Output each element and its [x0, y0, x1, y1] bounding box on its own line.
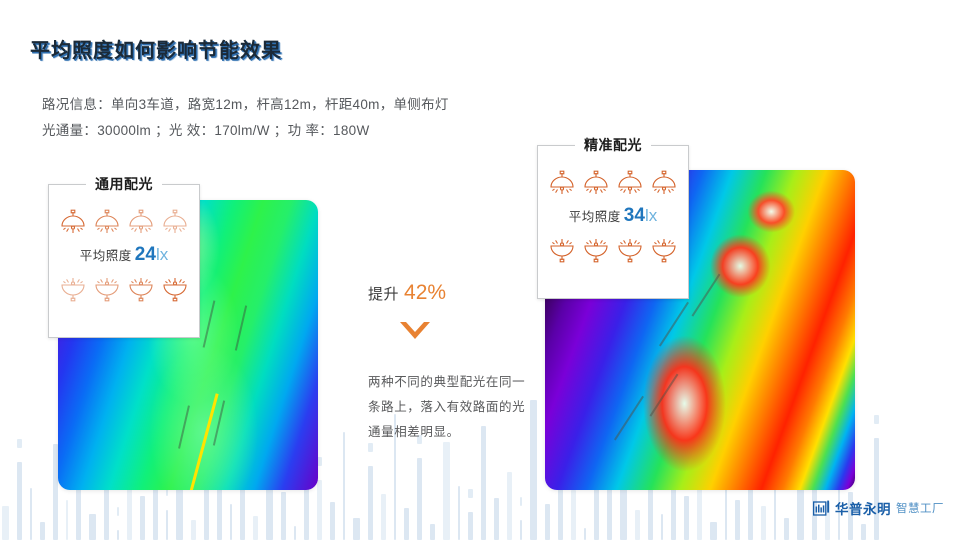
- background-bar: [230, 504, 232, 540]
- lamp-icon-inverted: [547, 237, 577, 263]
- avg-value-right: 34: [624, 205, 645, 226]
- lamp-icon: [160, 209, 190, 235]
- slide-canvas: 平均照度如何影响节能效果 路况信息：单向3车道，路宽12m，杆高12m，杆距40…: [0, 0, 960, 540]
- background-bar: [661, 514, 663, 540]
- background-bar: [89, 514, 96, 540]
- huapu-bars-logo-icon: [813, 500, 830, 517]
- background-bar: [353, 518, 360, 540]
- background-bar: [17, 462, 22, 540]
- lamp-icon-inverted: [58, 276, 88, 302]
- background-bar: [784, 518, 789, 540]
- background-bar: [294, 526, 296, 540]
- lane-mark: [692, 274, 721, 317]
- lane-mark: [203, 300, 215, 347]
- lamp-icon-inverted: [581, 237, 611, 263]
- background-bar-dot: [17, 439, 22, 448]
- lamp-icon: [547, 170, 577, 196]
- lane-mark: [178, 405, 189, 448]
- uplift-line: 提升42%: [368, 281, 533, 305]
- lamp-row-bottom-left: [49, 276, 199, 302]
- background-bar: [494, 498, 499, 540]
- chevron-down-icon: [398, 319, 533, 348]
- lamp-icon: [126, 209, 156, 235]
- background-bar: [417, 458, 422, 540]
- lamp-icon-inverted: [615, 237, 645, 263]
- background-bar: [443, 442, 450, 540]
- lamp-icon-inverted: [92, 276, 122, 302]
- background-bar: [217, 484, 222, 540]
- avg-unit-right: lx: [645, 206, 657, 225]
- lane-mark: [614, 396, 644, 440]
- center-summary: 提升42% 两种不同的典型配光在同一条路上，落入有效路面的光通量相差明显。: [368, 281, 533, 445]
- uplift-label: 提升: [368, 286, 399, 303]
- card-title-precision: 精准配光: [538, 135, 688, 155]
- card-title-general-label: 通用配光: [86, 176, 162, 192]
- background-bar: [861, 524, 866, 540]
- lamp-row-top-left: [49, 209, 199, 235]
- lamp-icon-inverted: [160, 276, 190, 302]
- background-bar: [368, 466, 373, 540]
- background-bar: [584, 528, 586, 540]
- background-bar-dot: [468, 489, 473, 498]
- background-bar: [40, 522, 45, 540]
- background-bar: [507, 472, 512, 540]
- road-info-line-1: 路况信息：单向3车道，路宽12m，杆高12m，杆距40m，单侧布灯: [42, 92, 449, 118]
- background-bar: [874, 438, 879, 540]
- page-title: 平均照度如何影响节能效果: [30, 34, 282, 63]
- background-bar: [191, 520, 196, 540]
- lamp-icon: [581, 170, 611, 196]
- background-bar: [430, 524, 435, 540]
- background-bar: [710, 522, 717, 540]
- lamp-icon: [649, 170, 679, 196]
- road-edge-line: [130, 393, 218, 490]
- avg-value-left: 24: [135, 244, 156, 265]
- lane-mark: [650, 374, 679, 417]
- lamp-row-bottom-right: [538, 237, 688, 263]
- lane-mark: [235, 305, 247, 350]
- comparison-description: 两种不同的典型配光在同一条路上，落入有效路面的光通量相差明显。: [368, 370, 528, 445]
- card-title-general: 通用配光: [49, 174, 199, 194]
- background-bar: [797, 484, 804, 540]
- background-bar: [140, 496, 145, 540]
- background-bar: [117, 530, 119, 540]
- background-bar: [343, 432, 345, 540]
- logo-main-text: 华普永明: [835, 498, 891, 518]
- avg-illuminance-left: 平均照度24lx: [49, 244, 199, 266]
- background-bar: [317, 480, 322, 540]
- background-bar: [571, 490, 576, 540]
- road-info-line-2: 光通量：30000lm ；光 效：170lm/W ；功 率：180W: [42, 118, 449, 144]
- background-bar-dot: [117, 507, 119, 516]
- background-bar: [458, 486, 460, 540]
- lamp-icon: [92, 209, 122, 235]
- card-general-distribution: 通用配光 平均照度24lx: [48, 184, 200, 338]
- background-bar: [735, 500, 740, 540]
- background-bar: [545, 504, 550, 540]
- avg-unit-left: lx: [156, 245, 168, 264]
- lamp-icon: [58, 209, 88, 235]
- background-bar: [404, 508, 409, 540]
- lamp-row-top-right: [538, 170, 688, 196]
- road-info-block: 路况信息：单向3车道，路宽12m，杆高12m，杆距40m，单侧布灯 光通量：30…: [42, 92, 449, 144]
- lamp-icon: [615, 170, 645, 196]
- background-bar: [30, 488, 32, 540]
- card-title-precision-label: 精准配光: [575, 137, 651, 153]
- background-bar-dot: [520, 497, 522, 506]
- lamp-icon-inverted: [126, 276, 156, 302]
- brand-logo: 华普永明 智慧工厂: [813, 498, 944, 518]
- background-bar: [330, 502, 335, 540]
- background-bar: [520, 520, 522, 540]
- background-bar: [684, 496, 689, 540]
- logo-sub-text: 智慧工厂: [896, 500, 944, 516]
- background-bar: [468, 512, 473, 540]
- background-bar: [2, 506, 9, 540]
- background-bar: [281, 492, 286, 540]
- background-bar: [66, 500, 68, 540]
- lane-mark: [213, 400, 225, 445]
- background-bar: [761, 506, 766, 540]
- background-bar: [381, 494, 386, 540]
- background-bar: [635, 510, 640, 540]
- avg-illuminance-right: 平均照度34lx: [538, 205, 688, 227]
- avg-label-right: 平均照度: [569, 210, 621, 224]
- background-bar: [166, 510, 168, 540]
- lamp-icon-inverted: [649, 237, 679, 263]
- card-precision-distribution: 精准配光 平均照度34lx: [537, 145, 689, 299]
- background-bar: [607, 482, 612, 540]
- avg-label-left: 平均照度: [80, 249, 132, 263]
- lane-mark: [659, 302, 689, 346]
- uplift-value: 42%: [404, 281, 446, 304]
- road-edge-line: [279, 388, 318, 490]
- background-bar-dot: [874, 415, 879, 424]
- background-bar: [253, 516, 258, 540]
